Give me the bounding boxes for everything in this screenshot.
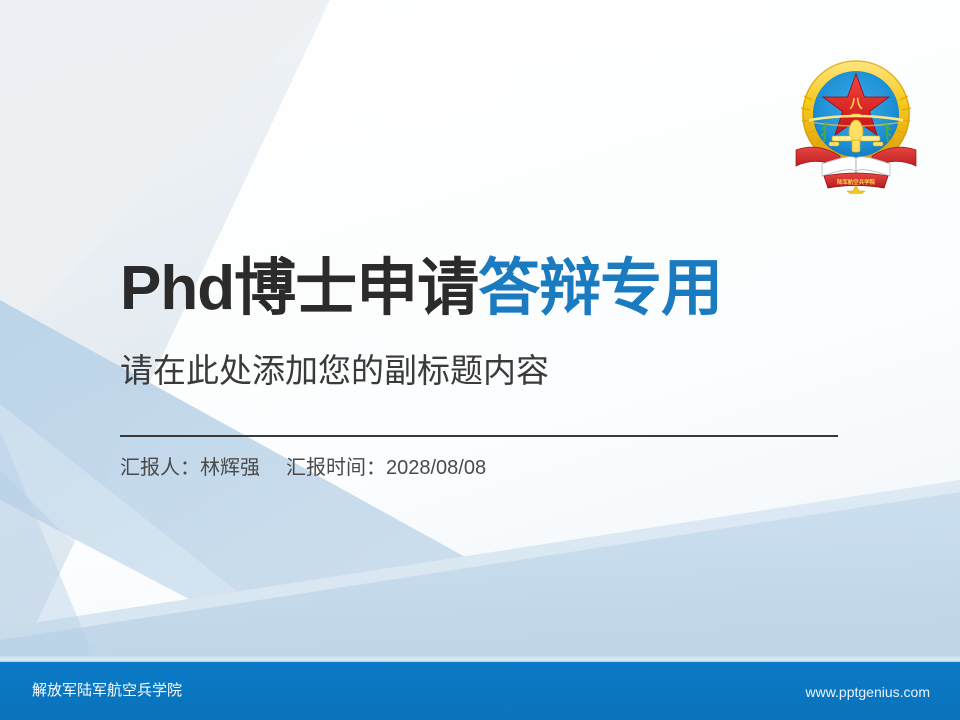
presenter-label: 汇报人：林辉强 <box>120 457 260 479</box>
byline: 汇报人：林辉强汇报时间：2028/08/08 <box>120 453 486 483</box>
slide-subtitle: 请在此处添加您的副标题内容 <box>120 350 549 392</box>
title-slide: 八 一 陆军航空兵学院 Phd博士申请答辩专用 请在此处添加您的副标题内容 <box>0 0 960 720</box>
slide-title-main: Phd博士申请 <box>120 254 478 323</box>
slide-title-accent: 答辩专用 <box>478 254 722 323</box>
svg-text:八: 八 <box>848 97 863 112</box>
title-divider-rule <box>120 435 838 437</box>
army-aviation-academy-emblem: 八 一 陆军航空兵学院 <box>788 52 924 194</box>
report-date-label: 汇报时间：2028/08/08 <box>286 457 486 479</box>
footer-institution: 解放军陆军航空兵学院 <box>32 681 182 701</box>
emblem-banner-text: 陆军航空兵学院 <box>837 178 875 186</box>
footer-website[interactable]: www.pptgenius.com <box>805 682 930 702</box>
slide-title: Phd博士申请答辩专用 <box>120 252 722 326</box>
